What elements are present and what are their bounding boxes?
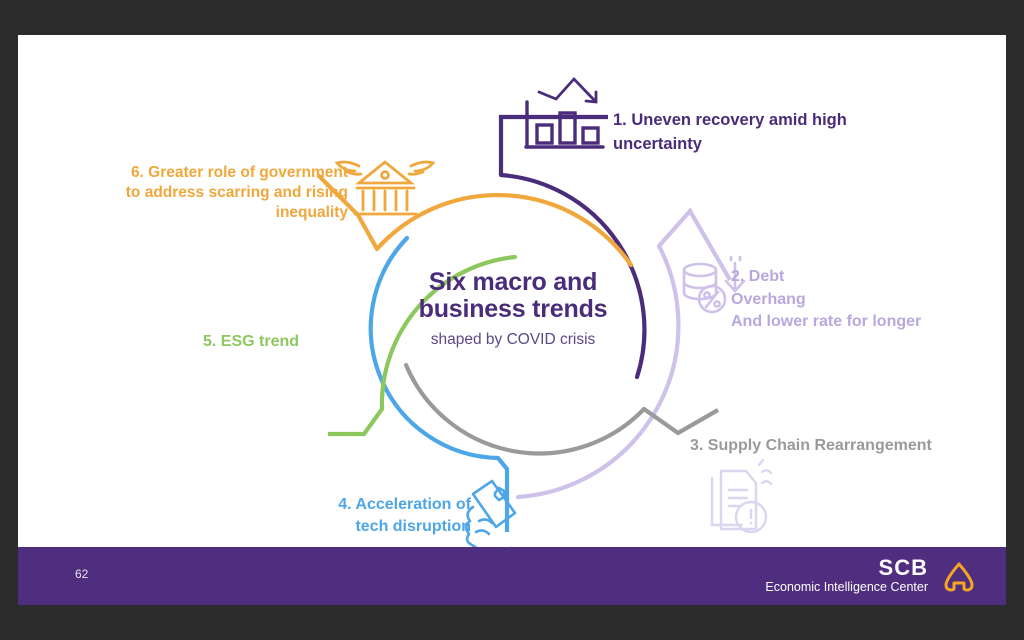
presentation-slide: Six macro and business trends shaped by … [18, 35, 1006, 605]
trend-label-5: 5. ESG trend [203, 330, 328, 353]
trend-label-3: 3. Supply Chain Rearrangement [690, 434, 980, 457]
brand-tagline: Economic Intelligence Center [765, 580, 928, 595]
slide-footer: 62 SCB Economic Intelligence Center [18, 547, 1006, 605]
scb-logo-icon [940, 561, 978, 593]
bar-chart-declining-arrow-icon [526, 79, 603, 147]
screenshot-root: Six macro and business trends shaped by … [0, 0, 1024, 640]
arc-trend-6 [377, 195, 631, 265]
diagram-subtitle: shaped by COVID crisis [388, 331, 638, 349]
brand-block: SCB Economic Intelligence Center [765, 556, 928, 595]
center-title-block: Six macro and business trends shaped by … [388, 269, 638, 349]
trend-label-4: 4. Acceleration of tech disruption [286, 494, 471, 539]
brand-name: SCB [765, 556, 928, 579]
trend-label-1: 1. Uneven recovery amid high uncertainty [613, 109, 888, 157]
trend-label-2: 2. Debt Overhang And lower rate for long… [731, 266, 991, 334]
leader-trend-5 [328, 409, 382, 434]
arc-trend-3 [406, 365, 644, 453]
trend-label-6: 6. Greater role of government to address… [70, 163, 348, 223]
page-number: 62 [75, 567, 88, 581]
documents-alert-icon [712, 460, 771, 532]
diagram-title: Six macro and business trends [388, 269, 638, 323]
